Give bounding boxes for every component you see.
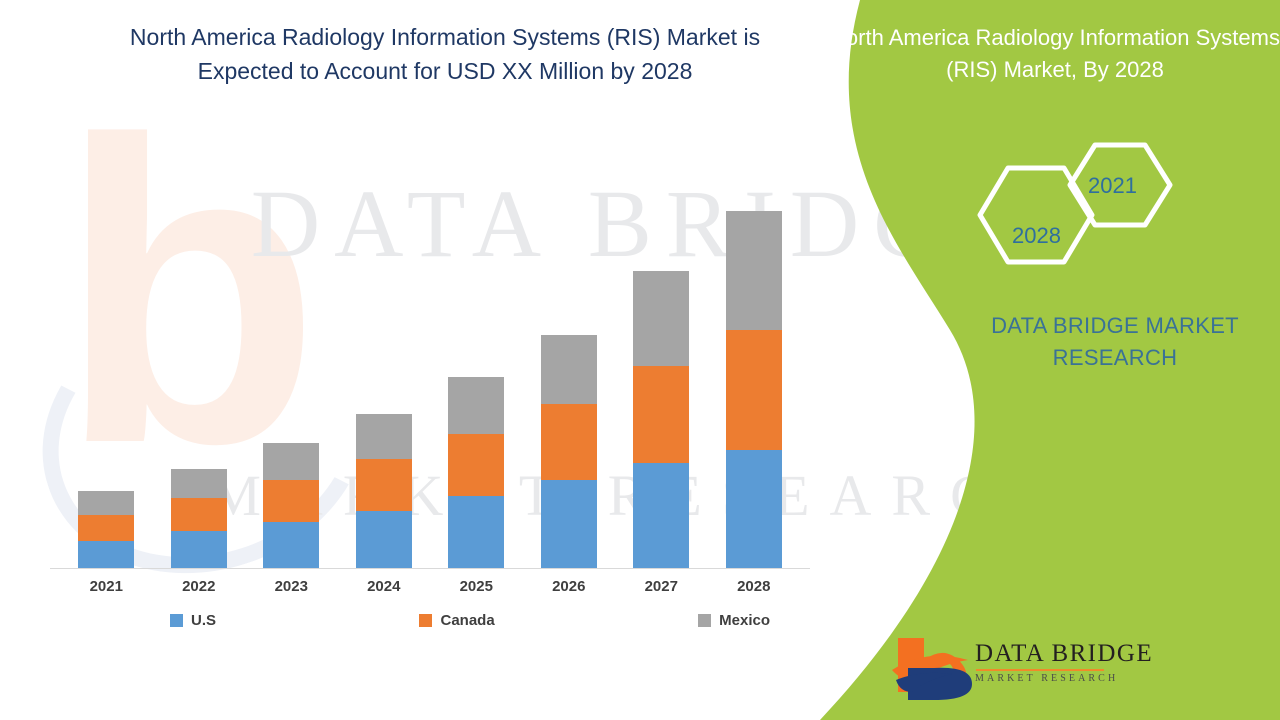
x-axis-line xyxy=(50,568,810,569)
bar-segment xyxy=(541,335,597,404)
bar-column xyxy=(448,180,504,568)
bar-segment xyxy=(171,469,227,498)
bar-segment xyxy=(171,498,227,531)
bar-segment xyxy=(448,377,504,434)
bar-segment xyxy=(78,541,134,568)
x-axis-label: 2025 xyxy=(448,578,504,595)
logo-subtitle: MARKET RESEARCH xyxy=(975,673,1153,684)
bar-segment xyxy=(633,271,689,366)
logo-wordmark: DATA BRIDGE MARKET RESEARCH xyxy=(975,640,1153,684)
plot-area xyxy=(60,180,800,568)
bar-segment xyxy=(263,443,319,480)
hexagon-group: 2021 2028 xyxy=(960,140,1220,290)
bar-column xyxy=(633,180,689,568)
x-axis-label: 2024 xyxy=(356,578,412,595)
bar-segment xyxy=(356,414,412,459)
bar-column xyxy=(78,180,134,568)
legend-label: Canada xyxy=(440,612,494,629)
legend-label: U.S xyxy=(191,612,216,629)
chart-title: North America Radiology Information Syst… xyxy=(95,20,795,88)
bar-segment xyxy=(448,434,504,496)
bar-segment xyxy=(356,511,412,568)
bar-column xyxy=(726,180,782,568)
bar-segment xyxy=(448,496,504,568)
bar-segment xyxy=(541,404,597,480)
bar-segment xyxy=(171,531,227,568)
bar-segment xyxy=(726,330,782,450)
bar-chart: 20212022202320242025202620272028 U.SCana… xyxy=(40,180,820,620)
infographic-root: b DATA BRIDGE MARKET RESEARCH North Amer… xyxy=(0,0,1280,720)
bar-segment xyxy=(78,491,134,515)
bar-segment xyxy=(633,463,689,568)
bar-segment xyxy=(263,480,319,522)
bar-segment xyxy=(263,522,319,568)
bar-column xyxy=(541,180,597,568)
hexagon-label-2028: 2028 xyxy=(1012,223,1061,249)
legend-item[interactable]: Mexico xyxy=(698,612,770,629)
legend-swatch-icon xyxy=(170,614,183,627)
bar-segment xyxy=(633,366,689,463)
hexagon-svg xyxy=(960,140,1220,290)
legend-label: Mexico xyxy=(719,612,770,629)
x-axis-label: 2027 xyxy=(633,578,689,595)
bar-segment xyxy=(356,459,412,511)
bar-segment xyxy=(78,515,134,541)
bar-segment xyxy=(726,211,782,330)
brand-name: DATA BRIDGE MARKET RESEARCH xyxy=(950,310,1280,374)
x-axis-label: 2023 xyxy=(263,578,319,595)
bar-column xyxy=(171,180,227,568)
x-axis-labels: 20212022202320242025202620272028 xyxy=(60,578,800,595)
x-axis-label: 2021 xyxy=(78,578,134,595)
x-axis-label: 2026 xyxy=(541,578,597,595)
x-axis-label: 2022 xyxy=(171,578,227,595)
legend-item[interactable]: U.S xyxy=(170,612,216,629)
logo-title: DATA BRIDGE xyxy=(975,640,1153,668)
bar-column xyxy=(356,180,412,568)
hexagon-label-2021: 2021 xyxy=(1088,173,1137,199)
legend-item[interactable]: Canada xyxy=(419,612,494,629)
bar-column xyxy=(263,180,319,568)
legend-swatch-icon xyxy=(698,614,711,627)
panel-title: North America Radiology Information Syst… xyxy=(830,22,1280,86)
bar-segment xyxy=(726,450,782,568)
logo-divider xyxy=(976,669,1104,671)
x-axis-label: 2028 xyxy=(726,578,782,595)
legend-swatch-icon xyxy=(419,614,432,627)
chart-legend: U.SCanadaMexico xyxy=(170,612,770,629)
bar-segment xyxy=(541,480,597,568)
